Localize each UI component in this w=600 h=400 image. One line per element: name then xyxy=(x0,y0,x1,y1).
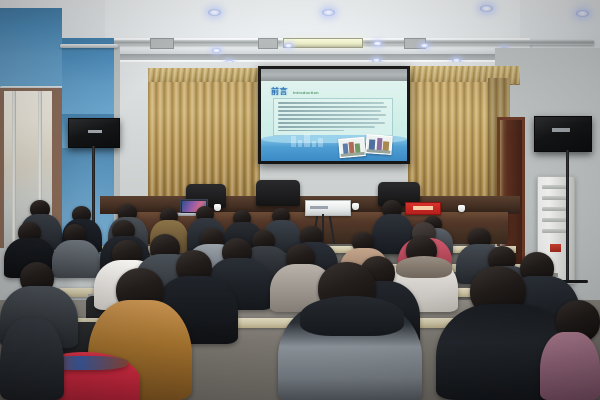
slide-skyline-shape xyxy=(304,134,310,147)
person-torso xyxy=(52,240,100,278)
slide-title-chinese: 前言 xyxy=(271,86,288,97)
slide-text-line xyxy=(278,106,387,108)
slide-skyline-shape xyxy=(291,136,296,147)
slide-text-line xyxy=(278,114,386,116)
equipment-box xyxy=(305,200,351,216)
slide-text-line xyxy=(278,102,384,104)
teacup xyxy=(214,204,221,211)
conference-room-photo: 前言 Introduction xyxy=(0,0,600,400)
slide-text-line xyxy=(278,122,385,124)
slide-title-english: Introduction xyxy=(293,90,319,95)
podium-chair[interactable] xyxy=(256,180,300,206)
ceiling-downlight xyxy=(420,43,429,48)
slide-skyline-shape xyxy=(312,141,316,147)
equipment-box-label xyxy=(310,206,328,209)
loudspeaker-right xyxy=(534,116,592,152)
speaker-stand-pole-right xyxy=(566,150,569,282)
ceiling-inner-panel xyxy=(105,0,520,40)
person-fur-hood xyxy=(396,256,452,278)
ac-vent xyxy=(542,229,568,233)
slide-photo-thumbnail xyxy=(365,134,392,155)
ceiling-downlight xyxy=(322,9,335,16)
slide-skyline-shape xyxy=(318,138,323,147)
ceiling-downlight xyxy=(208,9,221,16)
fluorescent-tube-light xyxy=(283,38,363,48)
nameplate-text xyxy=(413,206,433,210)
slide-body-textbox xyxy=(273,98,393,136)
teacup xyxy=(352,203,359,210)
ceiling-downlight xyxy=(284,43,293,48)
blind-top-bar xyxy=(60,44,118,48)
desk-nameplate xyxy=(405,202,441,215)
window-frame xyxy=(0,88,4,248)
ac-brand-badge xyxy=(550,244,561,252)
speaker-logo-left xyxy=(88,130,102,133)
ceiling-downlight xyxy=(212,48,221,53)
loudspeaker-left xyxy=(68,118,120,148)
ceiling-downlight xyxy=(480,5,493,12)
rail-fitting xyxy=(150,38,174,49)
ac-vent xyxy=(542,196,568,200)
ac-vent xyxy=(542,218,568,222)
slide-text-line xyxy=(278,126,375,128)
person-torso xyxy=(540,332,600,400)
ac-vent xyxy=(542,185,568,189)
ac-vent xyxy=(542,207,568,211)
speaker-logo-right xyxy=(552,128,570,132)
person-hood xyxy=(300,296,404,336)
window-frame xyxy=(0,88,62,91)
curtain-left xyxy=(148,82,260,200)
slide-text-line xyxy=(278,118,379,120)
projection-screen-top-band xyxy=(261,69,407,81)
slide-photo-thumbnail xyxy=(338,137,366,158)
slide-text-line xyxy=(278,130,344,132)
teacup xyxy=(458,205,465,212)
window-blind-left xyxy=(0,8,62,88)
slide-skyline-shape xyxy=(298,140,302,147)
ceiling-downlight xyxy=(373,41,382,46)
slide-text-line xyxy=(278,110,381,112)
window-mullion xyxy=(12,88,16,248)
window-blind-second xyxy=(62,38,114,114)
presentation-slide: 前言 Introduction xyxy=(261,81,407,161)
ceiling-downlight xyxy=(576,10,589,17)
person-torso xyxy=(0,318,64,400)
rail-fitting xyxy=(258,38,278,49)
